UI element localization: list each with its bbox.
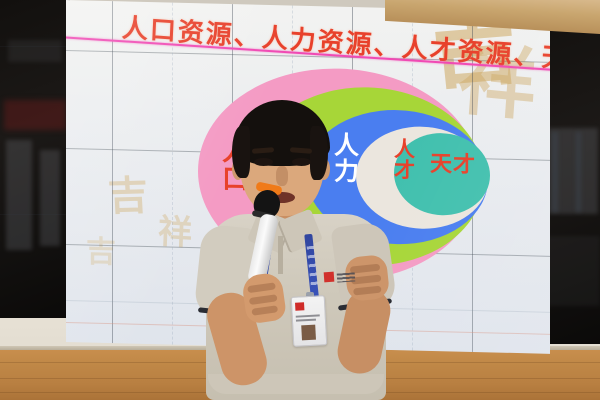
speaker-shirt-placket xyxy=(278,236,283,274)
badge-logo-icon xyxy=(295,302,304,310)
label-genius-resources: 天才 xyxy=(430,153,476,177)
panel-seam-v1 xyxy=(112,1,113,343)
watermark-small-a: 吉 xyxy=(107,177,149,216)
video-wall-panel-off-right xyxy=(546,0,600,344)
speaker-eye-left xyxy=(254,158,273,166)
guide-dashed-1 xyxy=(172,3,173,345)
watermark-small-b: 祥 xyxy=(157,216,192,250)
speaker-nose xyxy=(276,166,288,186)
shirt-logo-text xyxy=(337,272,356,282)
id-badge xyxy=(291,295,328,347)
label-talent-resources: 人 才 xyxy=(394,138,415,181)
speaker-hair-left xyxy=(232,126,250,178)
speaker-hair-right xyxy=(310,126,328,180)
shirt-logo-icon xyxy=(324,272,335,283)
speaker-eye-right xyxy=(292,158,311,166)
badge-photo xyxy=(301,325,316,341)
speaker xyxy=(196,96,396,400)
screenshot-root: 吉 祥 吉 祥 吉 人口资源、人力资源、人才资源、天才资源 xyxy=(0,0,600,400)
video-wall-panel-off-left xyxy=(0,0,70,318)
